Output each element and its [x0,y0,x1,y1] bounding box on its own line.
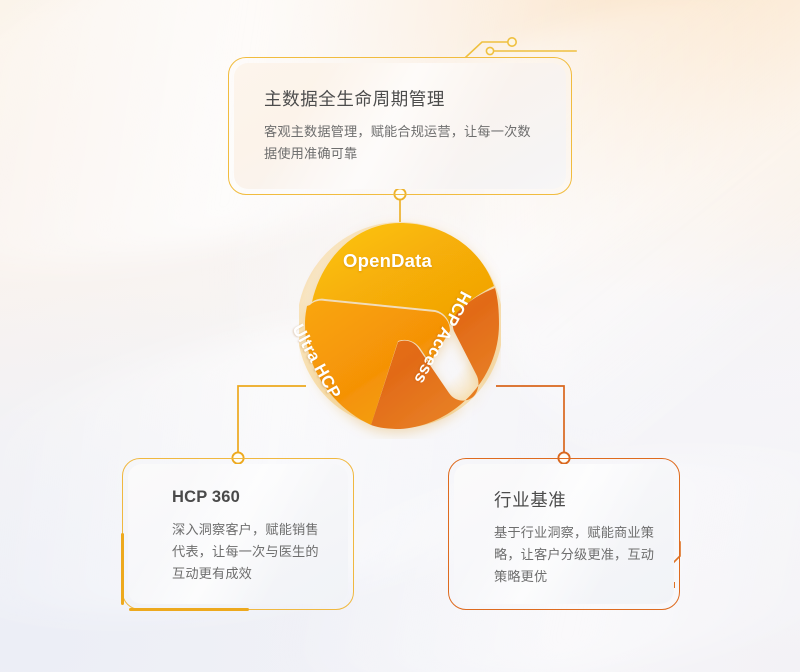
opendata-logo [299,213,501,439]
card-description: 基于行业洞察，赋能商业策略，让客户分级更准，互动策略更优 [494,522,658,588]
card-industry-benchmark[interactable]: 行业基准 基于行业洞察，赋能商业策略，让客户分级更准，互动策略更优 [448,458,680,610]
card-description: 客观主数据管理，赋能合规运营，让每一次数据使用准确可靠 [264,121,538,165]
card-hcp-360[interactable]: HCP 360 深入洞察客户，赋能销售代表，让每一次与医生的互动更有成效 [122,458,354,610]
card-surface: HCP 360 深入洞察客户，赋能销售代表，让每一次与医生的互动更有成效 [128,464,348,604]
card-content: 行业基准 基于行业洞察，赋能商业策略，让客户分级更准，互动策略更优 [454,464,674,588]
card-title: HCP 360 [172,488,328,508]
card-description: 深入洞察客户，赋能销售代表，让每一次与医生的互动更有成效 [172,519,328,585]
diagram-canvas: OpenData Ultra HCP HCP Access 主数据全生命周期管理… [0,0,800,672]
decorative-circuit-top-right [466,38,576,57]
connector-logo-to-benchmark [496,386,570,464]
card-master-data-lifecycle[interactable]: 主数据全生命周期管理 客观主数据管理，赋能合规运营，让每一次数据使用准确可靠 [228,57,572,195]
card-title: 主数据全生命周期管理 [264,89,538,110]
card-title: 行业基准 [494,490,658,511]
connector-logo-to-hcp360 [232,386,306,464]
card-surface: 主数据全生命周期管理 客观主数据管理，赋能合规运营，让每一次数据使用准确可靠 [234,63,566,189]
card-content: 主数据全生命周期管理 客观主数据管理，赋能合规运营，让每一次数据使用准确可靠 [234,63,566,165]
card-content: HCP 360 深入洞察客户，赋能销售代表，让每一次与医生的互动更有成效 [128,464,348,585]
card-surface: 行业基准 基于行业洞察，赋能商业策略，让客户分级更准，互动策略更优 [454,464,674,604]
